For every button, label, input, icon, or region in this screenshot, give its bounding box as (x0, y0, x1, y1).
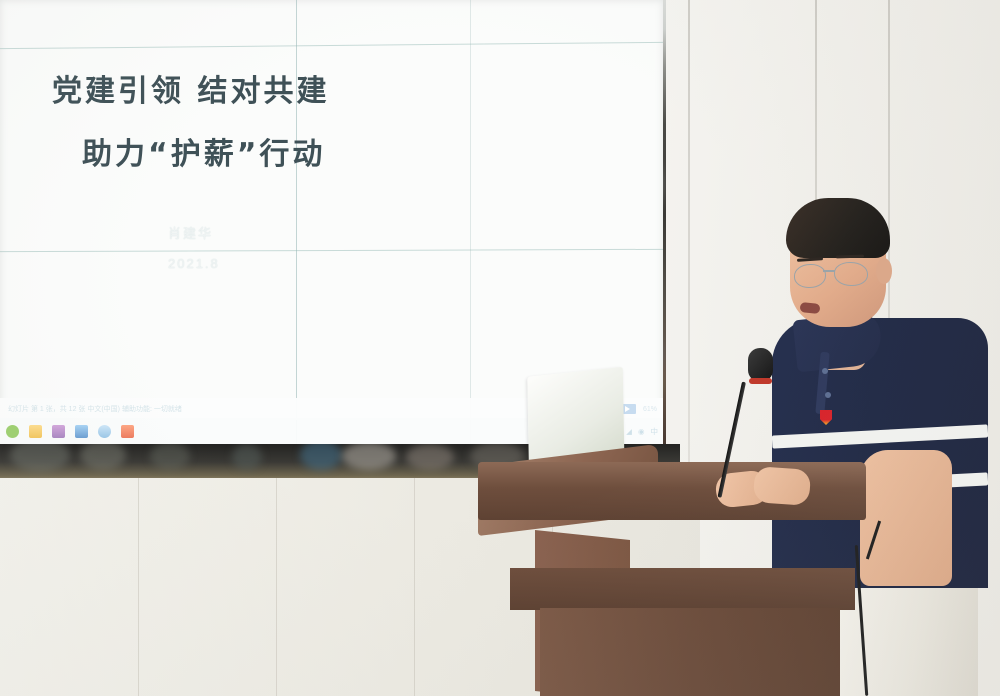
glasses-bridge (823, 270, 835, 272)
status-text: 幻灯片 第 1 张，共 12 张 中文(中国) 辅助功能: 一切就绪 (8, 404, 182, 414)
microphone-ring (749, 378, 772, 384)
start-icon[interactable] (6, 425, 19, 438)
screen-seam-vertical (470, 0, 471, 452)
lectern-middle (510, 568, 855, 610)
slide-author: 肖建华 (168, 223, 213, 242)
slide-title-line-1: 党建引领 结对共建 (52, 66, 329, 110)
presenter-hand-right (753, 466, 811, 506)
slide-date: 2021.8 (168, 256, 220, 271)
presenter-ear (876, 258, 892, 284)
wps-icon[interactable] (121, 425, 134, 438)
presenter-hair (786, 198, 890, 258)
screen-seam-horizontal (0, 42, 663, 49)
presentation-photo-scene: 党建引领 结对共建 助力“护薪”行动 肖建华 2021.8 幻灯片 第 1 张，… (0, 0, 1000, 696)
lock-icon[interactable] (52, 425, 65, 438)
polo-button (825, 392, 831, 398)
microphone-head (748, 348, 773, 382)
lower-wall-seam (414, 478, 415, 696)
network-icon[interactable]: ◢ (626, 427, 632, 436)
volume-icon[interactable]: ◉ (638, 427, 645, 436)
mail-icon[interactable] (75, 425, 88, 438)
slide-title-line-2: 助力“护薪”行动 (82, 129, 325, 173)
glasses-lens-right (834, 262, 868, 286)
glasses-lens-left (794, 264, 826, 288)
presenter-mouth (800, 302, 821, 314)
ime-icon[interactable]: 中 (651, 426, 659, 437)
polo-button (822, 368, 828, 374)
zoom-level-label[interactable]: 61% (643, 406, 657, 413)
presenter-arm (860, 450, 952, 586)
lectern-body (540, 608, 840, 696)
screen-seam-horizontal (0, 249, 663, 252)
lower-wall-seam (276, 478, 277, 696)
lower-wall-seam (138, 478, 139, 696)
browser-icon[interactable] (98, 425, 111, 438)
folder-icon[interactable] (29, 425, 42, 438)
